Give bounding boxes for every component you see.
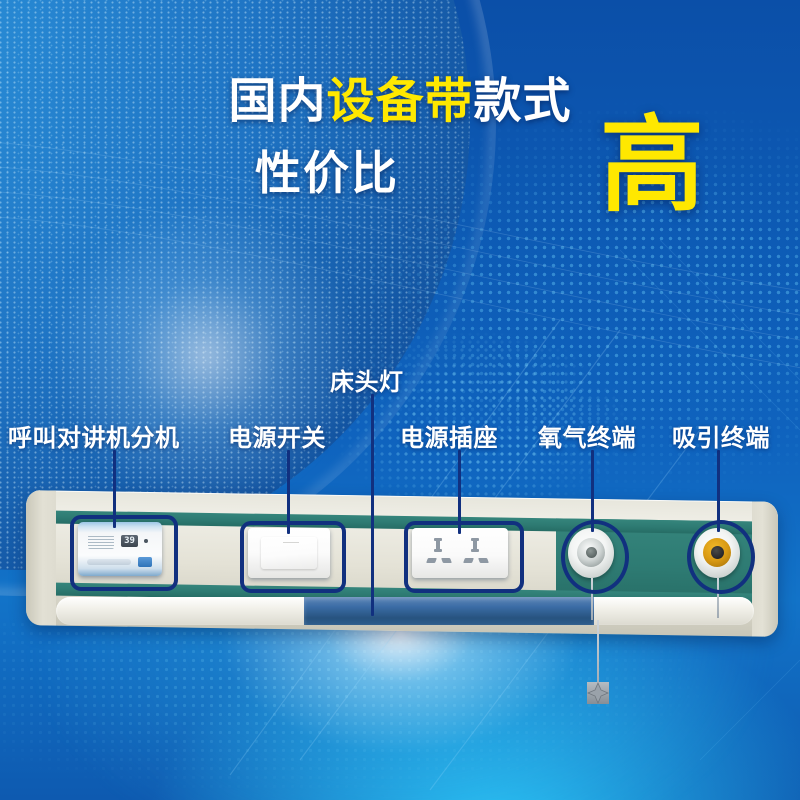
callout-label-power-switch: 电源开关 [228,418,326,453]
pull-cord-handle-icon[interactable] [587,682,609,704]
highlight-box-power-socket[interactable] [404,521,524,593]
pull-cord[interactable] [597,620,599,690]
callout-label-bed-lamp: 床头灯 [330,362,404,397]
panel-endcap-right [752,501,778,636]
panel-endcap-left [26,490,56,625]
highlight-box-power-switch[interactable] [240,521,346,593]
callout-label-power-socket: 电源插座 [400,418,498,453]
leader-line-bed-lamp [371,394,374,616]
highlight-box-intercom[interactable] [70,515,178,591]
highlight-circle-oxygen[interactable] [561,520,629,594]
panel-rail-blue-section [304,597,594,625]
callout-label-suction: 吸引终端 [672,418,770,453]
light-streaks-graphic [0,0,800,800]
highlight-circle-suction[interactable] [687,520,755,594]
promo-banner: 国内设备带款式 性价比 高 呼叫对讲机分机 电源开关 床头灯 电源插座 氧气终端… [0,0,800,800]
callout-label-oxygen: 氧气终端 [538,418,636,453]
callout-label-intercom: 呼叫对讲机分机 [8,418,180,453]
